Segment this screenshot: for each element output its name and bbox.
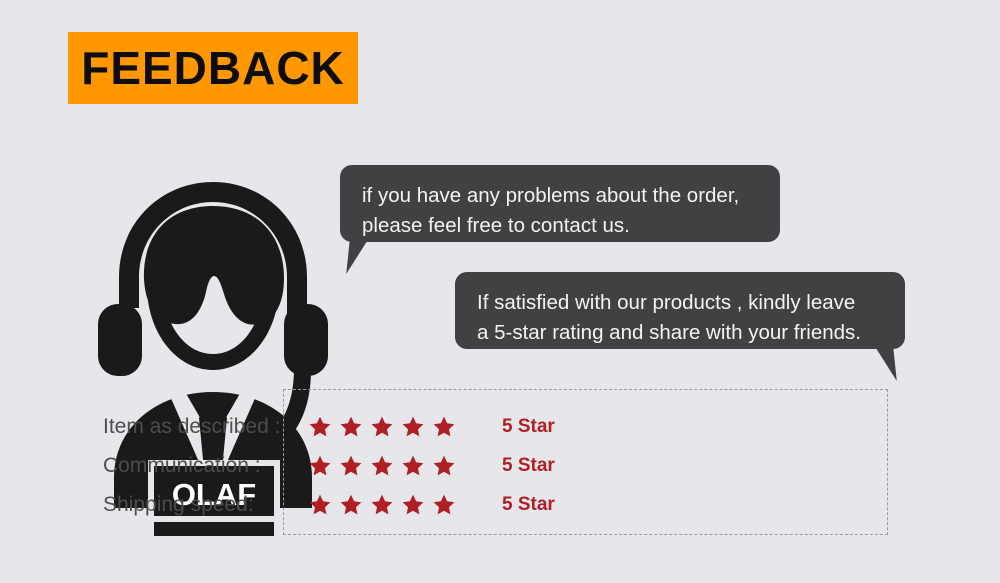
star-icon: [432, 454, 456, 478]
star-icon: [308, 454, 332, 478]
rating-label: Communication :: [103, 454, 308, 478]
rating-value: 5 Star: [502, 494, 555, 516]
star-icon: [401, 454, 425, 478]
headset-right-earcup-shape: [284, 304, 328, 376]
rating-value: 5 Star: [502, 455, 555, 477]
star-rating-group: [308, 415, 478, 439]
rating-row-shipping-speed: Shipping speed: 5 Star: [103, 486, 863, 524]
bubble-1-line-2: please feel free to contact us.: [362, 211, 758, 241]
star-icon: [401, 493, 425, 517]
page-title: FEEDBACK: [81, 45, 345, 91]
bubble-1-tail-shape: [346, 240, 368, 274]
operator-hair-shape: [144, 206, 284, 325]
star-icon: [339, 415, 363, 439]
star-icon: [370, 415, 394, 439]
star-icon: [370, 454, 394, 478]
star-icon: [432, 415, 456, 439]
star-icon: [339, 454, 363, 478]
rating-row-communication: Communication : 5 Star: [103, 447, 863, 485]
rating-row-item-as-described: Item as described : 5 Star: [103, 408, 863, 446]
feedback-banner-canvas: FEEDBACK: [0, 0, 1000, 583]
star-icon: [370, 493, 394, 517]
star-rating-group: [308, 454, 478, 478]
star-icon: [339, 493, 363, 517]
ratings-list: Item as described : 5 Star Communication…: [103, 408, 863, 525]
headset-left-earcup-shape: [98, 304, 142, 376]
star-icon: [432, 493, 456, 517]
speech-bubble-rating-request: If satisfied with our products , kindly …: [455, 272, 905, 349]
speech-bubble-order-help: if you have any problems about the order…: [340, 165, 780, 242]
bubble-2-line-1: If satisfied with our products , kindly …: [477, 288, 883, 318]
bubble-2-tail-shape: [875, 347, 897, 381]
bubble-2-line-2: a 5-star rating and share with your frie…: [477, 318, 883, 348]
feedback-title-banner: FEEDBACK: [68, 32, 358, 104]
star-icon: [308, 415, 332, 439]
rating-label: Shipping speed:: [103, 493, 308, 517]
rating-label: Item as described :: [103, 415, 308, 439]
bubble-1-line-1: if you have any problems about the order…: [362, 181, 758, 211]
rating-value: 5 Star: [502, 416, 555, 438]
star-icon: [401, 415, 425, 439]
star-icon: [308, 493, 332, 517]
star-rating-group: [308, 493, 478, 517]
